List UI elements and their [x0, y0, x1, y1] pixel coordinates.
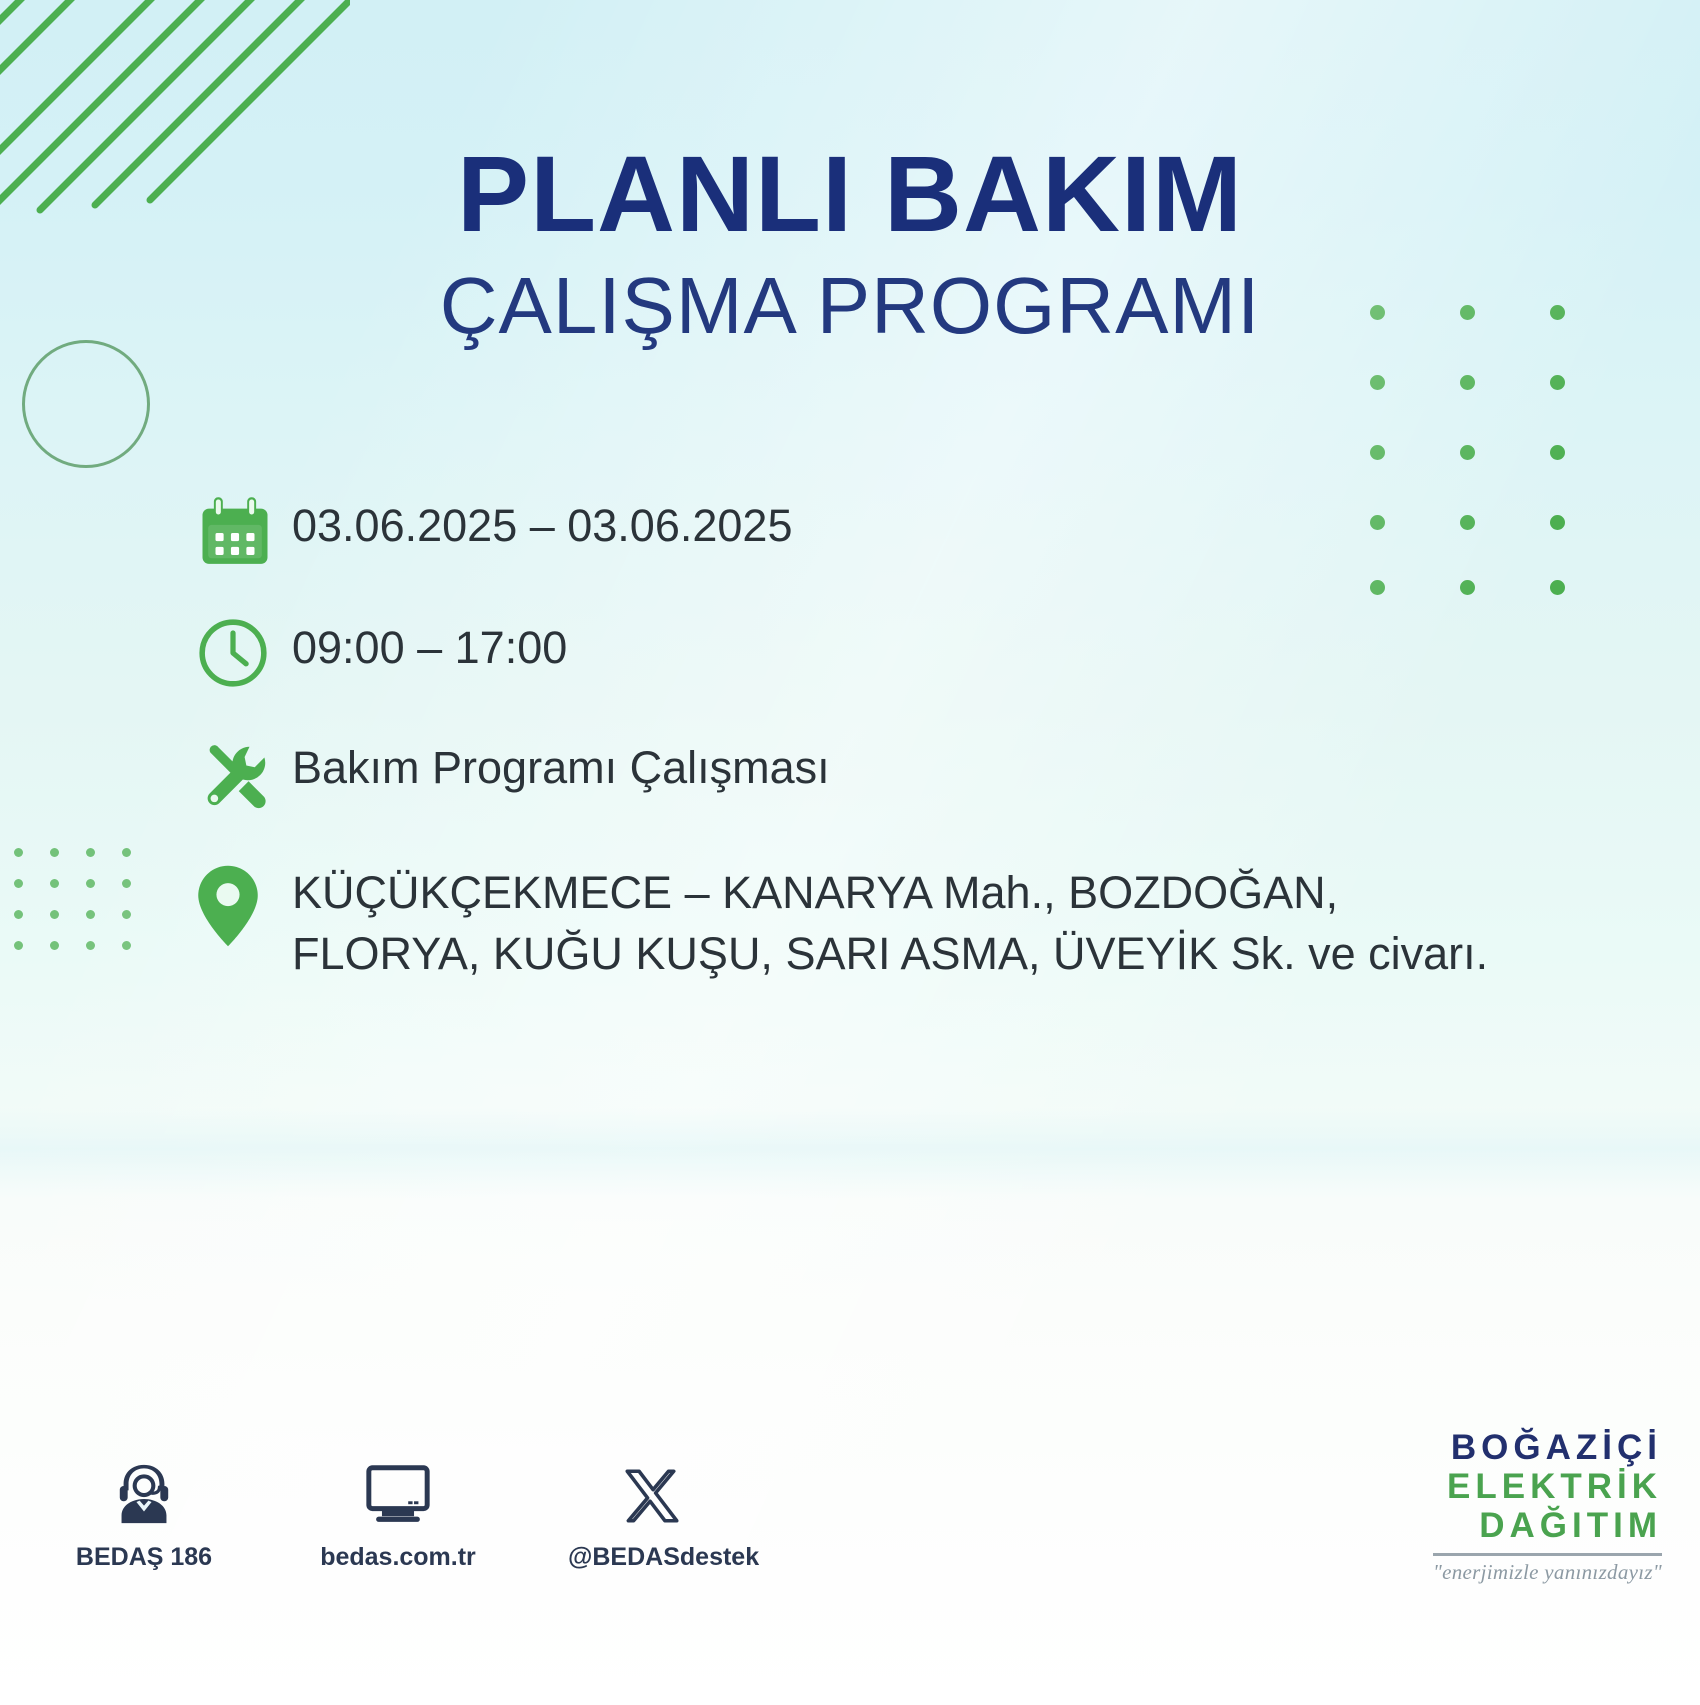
logo-line-dagitim: DAĞITIM — [1433, 1506, 1662, 1545]
time-range-text: 09:00 – 17:00 — [292, 614, 1516, 677]
page-title: PLANLI BAKIM — [0, 140, 1700, 248]
footer-item-website[interactable]: bedas.com.tr — [314, 1455, 482, 1572]
footer-item-x-account[interactable]: @BEDASdestek — [568, 1455, 736, 1572]
logo-divider — [1433, 1553, 1662, 1556]
footer-label-website: bedas.com.tr — [314, 1543, 482, 1572]
location-pin-icon — [196, 858, 292, 948]
tools-icon — [196, 734, 292, 812]
background-band — [0, 1108, 1700, 1198]
logo-tagline: "enerjimizle yanınızdayız" — [1433, 1560, 1662, 1585]
logo-line-elektrik: ELEKTRİK — [1433, 1467, 1662, 1506]
info-row-location: KÜÇÜKÇEKMECE – KANARYA Mah., BOZDOĞAN, F… — [196, 858, 1516, 984]
monitor-icon — [314, 1455, 482, 1529]
footer-contacts: BEDAŞ 186 bedas.com.tr @BEDASdestek — [60, 1455, 736, 1572]
headset-support-icon — [60, 1455, 228, 1529]
page-title-block: PLANLI BAKIM ÇALIŞMA PROGRAMI — [0, 140, 1700, 346]
info-row-time: 09:00 – 17:00 — [196, 614, 1516, 690]
logo-line-bogazici: BOĞAZİÇİ — [1433, 1428, 1662, 1467]
calendar-icon — [196, 492, 292, 572]
work-type-text: Bakım Programı Çalışması — [292, 734, 1516, 797]
clock-icon — [196, 614, 292, 690]
page-subtitle: ÇALIŞMA PROGRAMI — [0, 266, 1700, 346]
footer-item-call-center[interactable]: BEDAŞ 186 — [60, 1455, 228, 1572]
info-list: 03.06.2025 – 03.06.2025 09:00 – 17:00 — [196, 492, 1516, 1012]
dot-grid-left-decoration — [14, 848, 144, 958]
date-range-text: 03.06.2025 – 03.06.2025 — [292, 492, 1516, 555]
poster-canvas: PLANLI BAKIM ÇALIŞMA PROGRAMI — [0, 0, 1700, 1705]
info-row-work: Bakım Programı Çalışması — [196, 734, 1516, 812]
x-twitter-icon — [568, 1455, 736, 1529]
footer-label-x-account: @BEDASdestek — [568, 1543, 736, 1572]
location-text: KÜÇÜKÇEKMECE – KANARYA Mah., BOZDOĞAN, F… — [292, 858, 1516, 984]
circle-decoration — [22, 340, 150, 468]
company-logo: BOĞAZİÇİ ELEKTRİK DAĞITIM "enerjimizle y… — [1433, 1428, 1662, 1585]
info-row-date: 03.06.2025 – 03.06.2025 — [196, 492, 1516, 572]
footer-label-call-center: BEDAŞ 186 — [60, 1543, 228, 1572]
